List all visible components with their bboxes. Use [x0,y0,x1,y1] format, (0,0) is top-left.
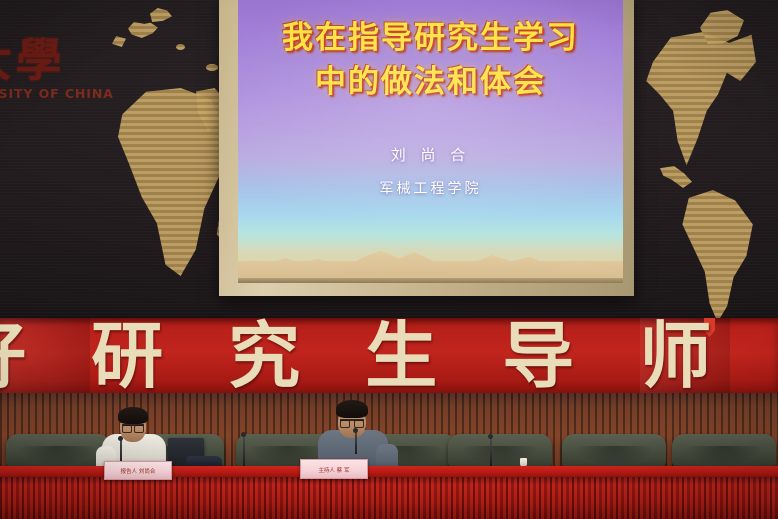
slide-title-line2: 中的做法和体会 [238,62,623,103]
person-right-glasses [340,419,364,426]
projection-screen: 我在指导研究生学习 中的做法和体会 刘 尚 合 军械工程学院 [238,0,623,283]
map-north-america [644,32,756,168]
slide-title-line1: 我在指导研究生学习 [238,18,623,59]
head-table-skirt [0,477,778,519]
map-europe [128,22,158,38]
map-scandinavia [150,8,172,22]
screen-bottom-edge [238,278,623,283]
map-south-america [676,190,756,322]
slide-dunes [238,219,623,283]
chair [562,434,666,468]
nameplate-presenter: 报告人 刘尚合 [104,461,172,480]
nameplate-moderator-text: 主持人 蔡 军 [318,465,349,473]
microphone-head [241,432,246,437]
person-left-glasses [122,424,144,431]
chair [448,434,552,468]
slide-affiliation: 军械工程学院 [238,178,623,198]
red-banner: 好 研 究 生 导 师 系 [0,318,778,396]
chair [6,434,110,468]
slide-presenter-name: 刘 尚 合 [238,144,623,165]
map-central-america [660,166,692,188]
nameplate-presenter-text: 报告人 刘尚合 [121,466,156,474]
microphone-stand [355,432,357,454]
person-left-hair [118,407,148,424]
nameplate-moderator: 主持人 蔡 军 [300,459,368,479]
microphone-head [353,428,358,433]
map-greenland [700,10,744,44]
university-logo: 大學 VERSITY OF CHINA [0,6,116,106]
microphone-head [488,434,493,439]
university-logo-chinese: 大學 [0,24,118,90]
person-right-hair [336,400,368,418]
banner-text: 好 研 究 生 导 师 系 [0,318,778,396]
university-logo-english: VERSITY OF CHINA [0,86,128,101]
table-skirt-pleats [0,477,778,519]
microphone-head [118,436,123,441]
chair [672,434,776,468]
projection-screen-frame: 我在指导研究生学习 中的做法和体会 刘 尚 合 军械工程学院 [219,0,634,296]
microphone-stand [490,438,492,466]
map-island-a [176,44,185,50]
map-island-b [206,64,218,71]
microphone-stand [243,436,245,466]
conference-hall-photo: 大學 VERSITY OF CHINA 我在指导研究生学习 中的做法和体会 刘 … [0,0,778,519]
